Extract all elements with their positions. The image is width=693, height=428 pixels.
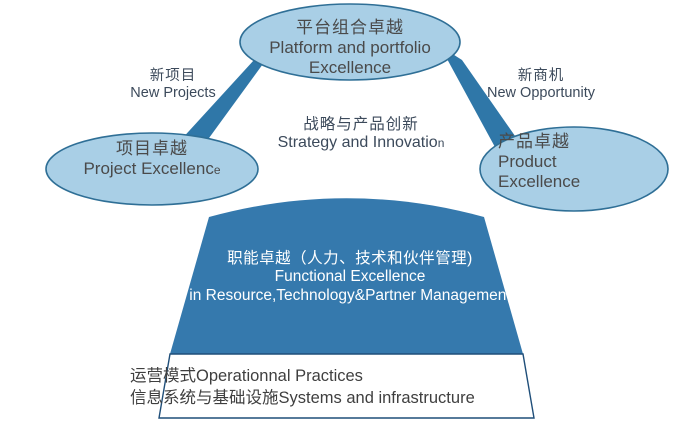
top-ellipse-label: 平台组合卓越 Platform and portfolio Excellence (240, 18, 460, 78)
right-ellipse-label: 产品卓越 Product Excellence (498, 132, 668, 192)
connector-label-right: 新商机 New Opportunity (466, 68, 616, 103)
top-ellipse-label-en-line2: Excellence (240, 58, 460, 78)
connector-label-right-en: New Opportunity (466, 85, 616, 102)
connector-label-left-cn: 新项目 (108, 68, 238, 85)
operations-box-label: 运营模式Operationnal Practices 信息系统与基础设施Syst… (130, 366, 580, 410)
functional-excellence-label-en-line2: in Resource,Technology&Partner Managemen… (110, 287, 590, 305)
right-ellipse-label-cn: 产品卓越 (498, 132, 668, 152)
left-ellipse-label-cn: 项目卓越 (46, 139, 258, 159)
excellence-framework-diagram: 平台组合卓越 Platform and portfolio Excellence… (0, 0, 693, 428)
left-ellipse-label-en-main: Project Excellenc (83, 159, 213, 178)
functional-excellence-label: 职能卓越（人力、技术和伙伴管理) Functional Excellence i… (110, 250, 590, 305)
center-strategy-label-en-tail: n (438, 136, 445, 150)
left-ellipse-label-en: Project Excellence (46, 159, 258, 179)
left-ellipse-label-en-tail: e (214, 163, 221, 177)
connector-label-left-en: New Projects (108, 85, 238, 102)
operations-box-label-line2: 信息系统与基础设施Systems and infrastructure (130, 388, 580, 410)
center-strategy-label: 战略与产品创新 Strategy and Innovation (242, 116, 480, 153)
top-ellipse-label-cn: 平台组合卓越 (240, 18, 460, 38)
top-ellipse-label-en-line1: Platform and portfolio (240, 38, 460, 58)
operations-box-label-line1: 运营模式Operationnal Practices (130, 366, 580, 388)
right-ellipse-label-en-line1: Product (498, 152, 668, 172)
connector-label-right-cn: 新商机 (466, 68, 616, 85)
right-ellipse-label-en-line2: Excellence (498, 172, 668, 192)
functional-excellence-label-en-line1: Functional Excellence (110, 268, 590, 286)
center-strategy-label-en-main: Strategy and Innovatio (278, 134, 438, 151)
center-strategy-label-en: Strategy and Innovation (242, 134, 480, 153)
center-strategy-label-cn: 战略与产品创新 (242, 116, 480, 134)
connector-label-left: 新项目 New Projects (108, 68, 238, 103)
left-ellipse-label: 项目卓越 Project Excellence (46, 139, 258, 179)
functional-excellence-label-cn: 职能卓越（人力、技术和伙伴管理) (110, 250, 590, 268)
